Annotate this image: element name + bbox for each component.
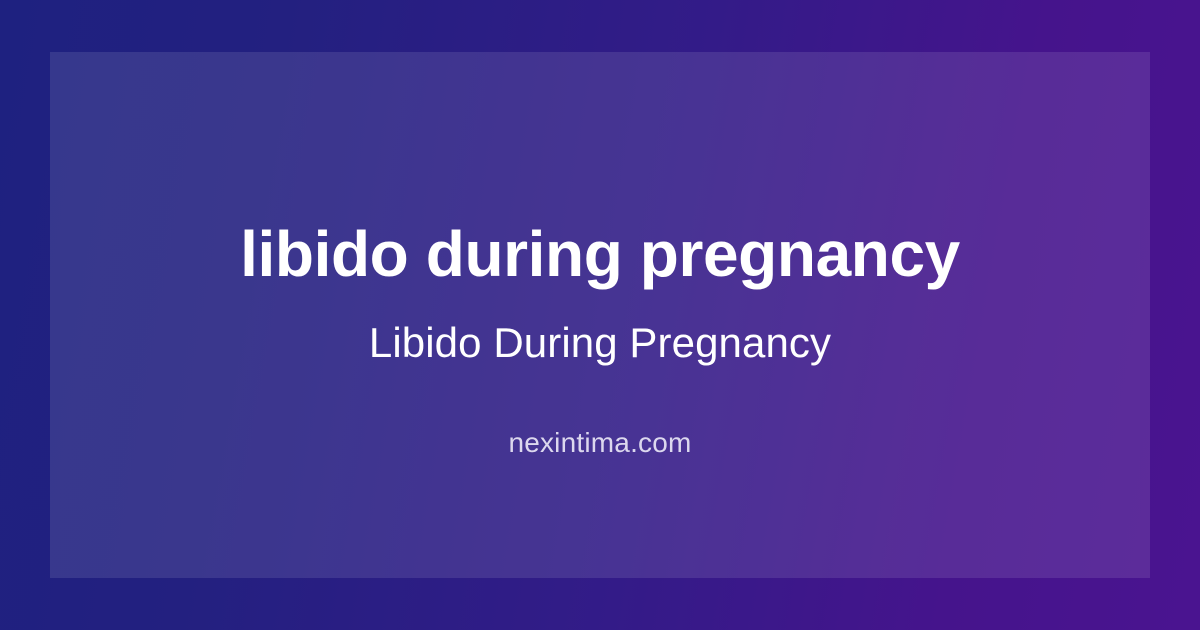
page-subtitle: Libido During Pregnancy	[369, 319, 831, 367]
og-image-canvas: libido during pregnancy Libido During Pr…	[0, 0, 1200, 630]
og-content-panel: libido during pregnancy Libido During Pr…	[50, 52, 1150, 578]
page-title: libido during pregnancy	[240, 220, 960, 289]
og-text-stack: libido during pregnancy Libido During Pr…	[50, 220, 1150, 460]
site-domain-label: nexintima.com	[508, 426, 691, 460]
